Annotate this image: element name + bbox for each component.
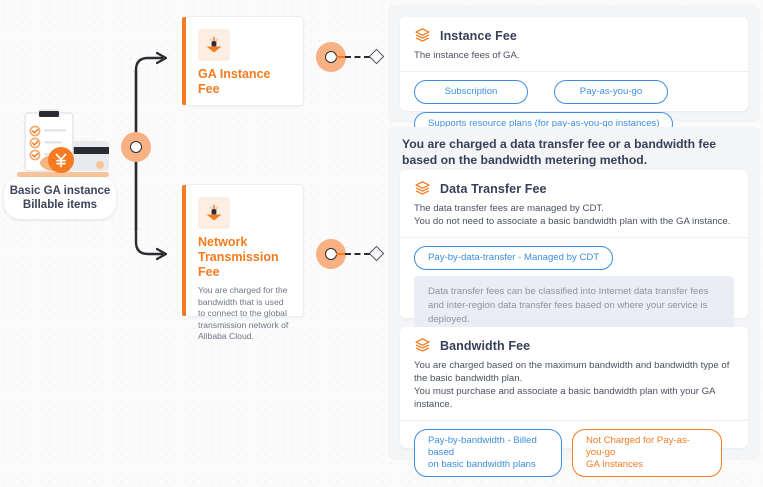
pill-pay-as-you-go[interactable]: Pay-as-you-go bbox=[554, 80, 668, 104]
branch-card-title: Network Transmission Fee bbox=[186, 235, 303, 280]
connector-ga-instance-fee bbox=[316, 40, 386, 74]
card-instance-fee[interactable]: Instance Fee The instance fees of GA. Su… bbox=[400, 17, 748, 111]
pill-row: Pay-by-data-transfer - Managed by CDT bbox=[400, 238, 748, 276]
branch-card-title: GA Instance Fee bbox=[186, 67, 303, 97]
card-header: Bandwidth Fee bbox=[400, 327, 748, 354]
branch-card-ga-instance-fee[interactable]: GA Instance Fee bbox=[186, 16, 304, 106]
card-data-transfer-fee[interactable]: Data Transfer Fee The data transfer fees… bbox=[400, 170, 748, 318]
card-title: Bandwidth Fee bbox=[440, 339, 530, 353]
pill-subscription[interactable]: Subscription bbox=[414, 80, 528, 104]
connector-diamond-icon bbox=[369, 246, 385, 262]
card-accent-bar bbox=[182, 17, 186, 105]
card-bandwidth-fee[interactable]: Bandwidth Fee You are charged based on t… bbox=[400, 327, 748, 448]
billing-illustration bbox=[8, 105, 118, 185]
connector-dashed-line bbox=[345, 253, 370, 255]
layers-icon bbox=[414, 27, 431, 44]
card-title: Data Transfer Fee bbox=[440, 182, 547, 196]
panel-instance-fee: Instance Fee The instance fees of GA. Su… bbox=[388, 5, 760, 122]
panel-transmission-fee: You are charged a data transfer fee or a… bbox=[388, 127, 760, 460]
layers-icon bbox=[414, 180, 431, 197]
connector-dashed-line bbox=[345, 56, 370, 58]
pill-pay-by-data-transfer[interactable]: Pay-by-data-transfer - Managed by CDT bbox=[414, 246, 613, 270]
root-node-label: Basic GA instance Billable items bbox=[4, 177, 116, 219]
card-description: The instance fees of GA. bbox=[400, 44, 748, 71]
connector-stub bbox=[336, 253, 345, 255]
funnel-download-icon bbox=[198, 197, 230, 229]
connector-diamond-icon bbox=[369, 49, 385, 65]
diagram-canvas: Basic GA instance Billable items GA Inst… bbox=[0, 0, 763, 466]
pill-pay-by-bandwidth[interactable]: Pay-by-bandwidth - Billed based on basic… bbox=[414, 429, 562, 477]
connector-stub bbox=[336, 56, 345, 58]
connector-network-transmission-fee bbox=[316, 237, 386, 271]
card-accent-bar bbox=[182, 185, 186, 316]
branch-card-description: You are charged for the bandwidth that i… bbox=[186, 280, 303, 343]
layers-icon bbox=[414, 337, 431, 354]
panel-heading: You are charged a data transfer fee or a… bbox=[388, 127, 760, 173]
pill-row: Subscription Pay-as-you-go bbox=[400, 72, 748, 106]
branch-card-network-transmission-fee[interactable]: Network Transmission Fee You are charged… bbox=[186, 184, 304, 317]
pill-row: Pay-by-bandwidth - Billed based on basic… bbox=[400, 421, 748, 487]
funnel-download-icon bbox=[198, 29, 230, 61]
card-description: The data transfer fees are managed by CD… bbox=[400, 197, 748, 237]
root-hub-node bbox=[121, 132, 151, 162]
pill-not-charged-pay-as-you-go[interactable]: Not Charged for Pay-as-you-go GA Instanc… bbox=[572, 429, 722, 477]
clipboard-billing-illustration bbox=[8, 105, 118, 185]
card-header: Data Transfer Fee bbox=[400, 170, 748, 197]
card-header: Instance Fee bbox=[400, 17, 748, 44]
card-description: You are charged based on the maximum ban… bbox=[400, 354, 748, 420]
card-title: Instance Fee bbox=[440, 29, 517, 43]
